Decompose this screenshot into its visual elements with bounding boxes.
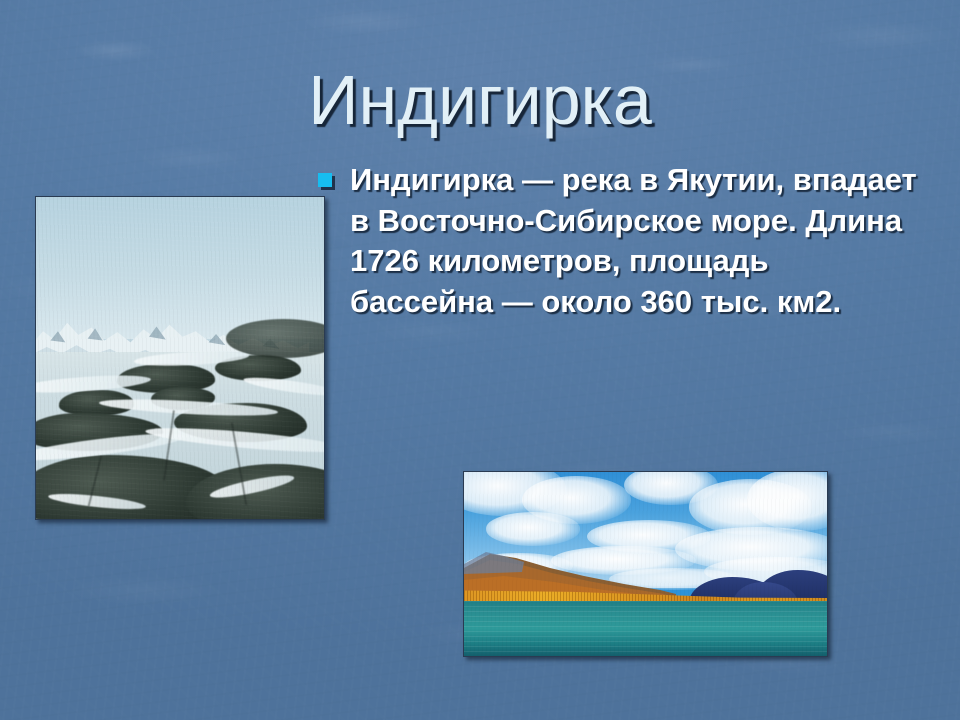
bullet-item-text: Индигирка — река в Якутии, впадает в Вос… [350,160,918,322]
presentation-slide: Индигирка Индигирка — река в Якутии, впа… [0,0,960,720]
square-bullet-icon [318,173,332,187]
photo-grain [36,197,324,519]
photo-grain [464,472,827,656]
content-placeholder: Индигирка — река в Якутии, впадает в Вос… [318,160,918,322]
autumn-river-photo [463,471,828,657]
slide-title: Индигирка [0,58,960,142]
winter-braided-river-photo [35,196,325,520]
